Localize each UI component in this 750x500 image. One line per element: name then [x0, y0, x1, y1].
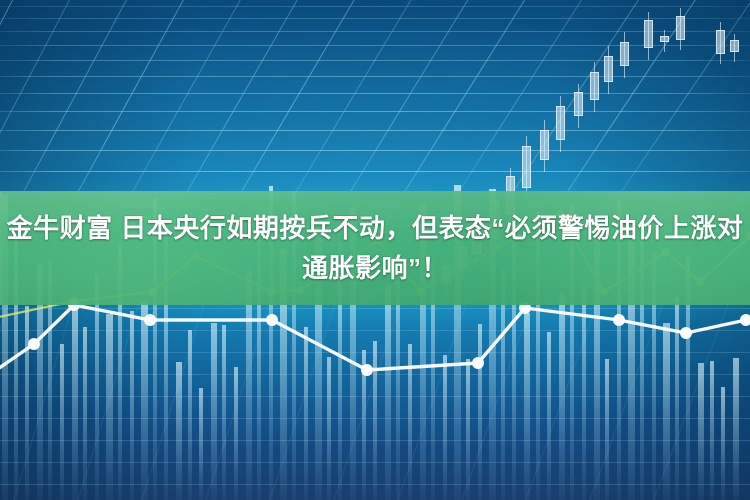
trend-line-marker	[613, 314, 625, 326]
trend-line-marker	[472, 357, 484, 369]
trend-line-marker	[361, 364, 373, 376]
trend-line-marker	[266, 314, 278, 326]
band-texture	[0, 191, 750, 305]
trend-line-marker	[28, 338, 40, 350]
trend-line-marker	[144, 314, 156, 326]
banner-image: 金牛财富 日本央行如期按兵不动，但表态“必须警惕油价上涨对 通胀影响”！	[0, 0, 750, 500]
headline-band	[0, 191, 750, 305]
trend-line-marker	[680, 327, 692, 339]
trend-line-path	[0, 305, 746, 373]
trend-line-marker	[740, 314, 750, 326]
white-trend-line	[0, 299, 750, 376]
